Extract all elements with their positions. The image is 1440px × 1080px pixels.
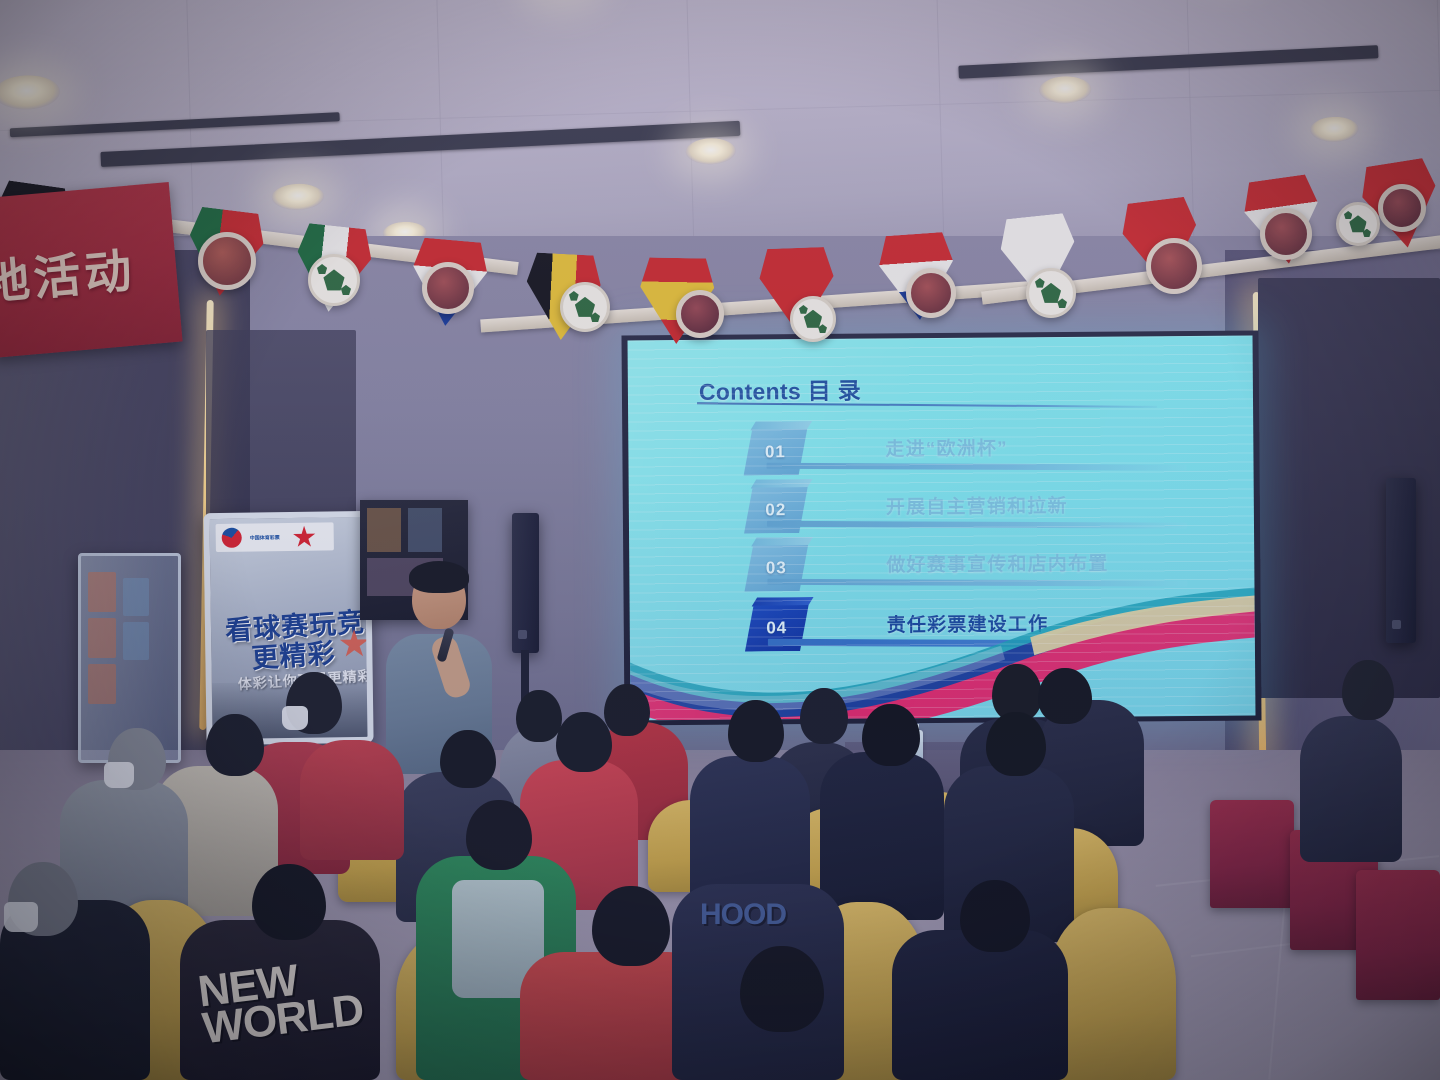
bunting-medallion	[1146, 238, 1202, 294]
red-event-banner: 地活动	[0, 182, 183, 358]
attendee-head	[960, 880, 1030, 952]
attendee-head	[252, 864, 326, 940]
attendee-body	[820, 752, 944, 920]
cabinet-item	[88, 664, 116, 704]
standee-logo-block: 中国体育彩票	[216, 522, 334, 552]
toc-bar	[767, 463, 1187, 471]
attendee-head	[516, 690, 562, 742]
bunting-medallion	[676, 290, 724, 338]
chair-red	[1356, 870, 1440, 1000]
jacket-graphic-center: HOOD	[700, 902, 786, 928]
chair-red	[1210, 800, 1294, 908]
face-mask	[282, 706, 308, 730]
attendee-body	[1300, 716, 1402, 862]
bunting-medallion	[906, 268, 956, 318]
attendee-head	[740, 946, 824, 1032]
attendee-head	[206, 714, 264, 776]
standee-logo-text: 中国体育彩票	[250, 534, 280, 541]
toc-row-01[interactable]: 01 走进“欧洲杯”	[688, 422, 1193, 478]
soccer-bunting-garland	[0, 150, 1440, 380]
toc-label-02: 开展自主营销和拉新	[886, 491, 1068, 519]
bunting-medallion	[1260, 208, 1312, 260]
noticeboard-poster	[408, 508, 442, 552]
attendee-body	[300, 740, 404, 860]
bunting-medallion	[422, 262, 474, 314]
projection-screen[interactable]: Contents 目 录 01 走进“欧洲杯” 02 开展自主营销和拉新 03 …	[621, 331, 1261, 726]
attendee-head	[556, 712, 612, 772]
bunting-soccer-ball	[1026, 268, 1076, 318]
attendee-body	[892, 930, 1068, 1080]
sports-lottery-logo-icon	[222, 528, 242, 548]
attendee-head	[466, 800, 532, 870]
cabinet-item	[88, 572, 116, 612]
toc-label-01: 走进“欧洲杯”	[885, 433, 1008, 461]
noticeboard-poster	[367, 508, 401, 552]
bunting-medallion	[198, 232, 256, 290]
cabinet-item	[88, 618, 116, 658]
cabinet-item	[123, 622, 149, 660]
cabinet-item	[123, 578, 149, 616]
face-mask	[104, 762, 134, 788]
attendee-head	[986, 712, 1046, 776]
slide-contents-page: Contents 目 录 01 走进“欧洲杯” 02 开展自主营销和拉新 03 …	[628, 336, 1256, 721]
presentation-room-photo: Contents 目 录 01 走进“欧洲杯” 02 开展自主营销和拉新 03 …	[0, 0, 1440, 1080]
face-mask	[4, 902, 38, 932]
attendee-head	[604, 684, 650, 736]
loudspeaker-right	[1386, 478, 1416, 643]
attendee-head	[1342, 660, 1394, 720]
bunting-soccer-ball	[1336, 202, 1380, 246]
toc-badge-cap	[750, 421, 812, 430]
bunting-soccer-ball	[790, 296, 836, 342]
bunting-soccer-ball	[308, 254, 360, 306]
slide-wave-decoration	[629, 566, 1255, 721]
attendee-head	[728, 700, 784, 762]
attendee-head	[862, 704, 920, 766]
attendee-head	[800, 688, 848, 744]
presenter-hair	[409, 561, 469, 593]
toc-row-02[interactable]: 02 开展自主营销和拉新	[689, 480, 1194, 536]
bunting-medallion	[1378, 184, 1426, 232]
attendee-head	[1038, 668, 1092, 724]
attendee-head	[440, 730, 496, 788]
toc-badge-cap	[751, 537, 813, 546]
attendee-head	[592, 886, 670, 966]
jacket-graphic-line1: NEW WORLD	[196, 951, 394, 1048]
loudspeaker-left	[512, 513, 539, 653]
red-banner-text: 地活动	[0, 231, 138, 313]
toc-bar	[767, 521, 1187, 529]
toc-badge-cap	[751, 479, 813, 488]
bunting-soccer-ball	[560, 282, 610, 332]
